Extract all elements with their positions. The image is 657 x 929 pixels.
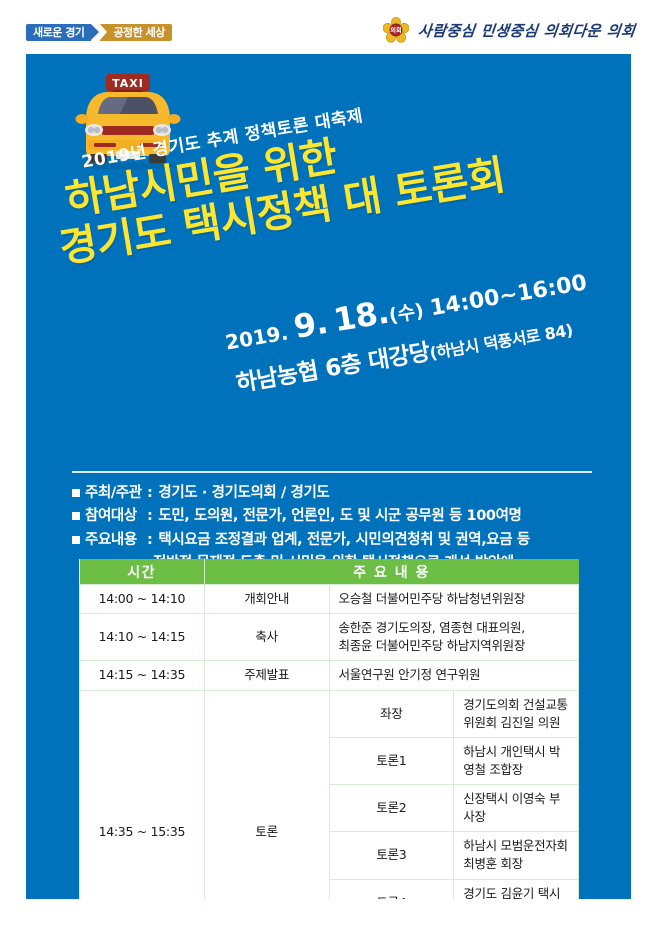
cell-subrole: 토론1 <box>329 737 454 784</box>
date-weekday: (수) <box>387 300 425 327</box>
cell-description: 경기도 김윤기 택시교통과장 <box>454 879 579 899</box>
table-row: 14:10 ~ 14:15 축사 송한준 경기도의장, 염종현 대표의원, 최종… <box>80 614 579 661</box>
cell-description: 하남시 개인택시 박영철 조합장 <box>454 737 579 784</box>
info-label: 참여대상 <box>85 505 147 528</box>
logo-text-fair-world: 공정한 세상 <box>100 24 171 41</box>
svg-text:의회: 의회 <box>390 27 402 35</box>
cell-time: 14:10 ~ 14:15 <box>80 614 205 661</box>
cell-time: 14:00 ~ 14:10 <box>80 585 205 614</box>
cell-description: 송한준 경기도의장, 염종현 대표의원, 최종윤 더불어민주당 하남지역위원장 <box>329 614 579 661</box>
info-value: 도민, 도의원, 전문가, 언론인, 도 및 시군 공무원 등 100여명 <box>158 505 602 528</box>
cell-description: 신장택시 이영숙 부사장 <box>454 785 579 832</box>
date-month: 9. <box>291 303 330 346</box>
poster-panel: TAXI <box>26 54 631 899</box>
info-colon: : <box>147 529 152 552</box>
info-label: 주최/주관 <box>85 482 147 505</box>
council-slogan-text: 사람중심 민생중심 의회다운 의회 <box>417 20 637 41</box>
venue-address: (하남시 덕풍서로 84) <box>428 321 574 364</box>
cell-description-line-2: 최종윤 더불어민주당 하남지역위원장 <box>339 637 570 655</box>
cell-description-line-1: 송한준 경기도의장, 염종현 대표의원, <box>339 619 570 637</box>
table-row: 14:35 ~ 15:35 토론 좌장 경기도의회 건설교통위원회 김진일 의원 <box>80 690 579 737</box>
schedule-table-wrapper: 시간 주 요 내 용 14:00 ~ 14:10 개회안내 오승철 더불어민주당… <box>79 559 579 899</box>
cell-time: 14:15 ~ 14:35 <box>80 661 205 690</box>
info-colon: : <box>147 505 152 528</box>
info-value: 택시요금 조정결과 업계, 전문가, 시민의견청취 및 권역,요금 등 <box>158 529 602 552</box>
cell-time: 14:35 ~ 15:35 <box>80 690 205 899</box>
info-row-participants: 참여대상 : 도민, 도의원, 전문가, 언론인, 도 및 시군 공무원 등 1… <box>72 505 602 528</box>
date-year: 2019. <box>223 320 289 354</box>
table-row: 14:15 ~ 14:35 주제발표 서울연구원 안기정 연구위원 <box>80 661 579 690</box>
cell-subrole: 좌장 <box>329 690 454 737</box>
column-header-content: 주 요 내 용 <box>204 559 578 585</box>
column-header-time: 시간 <box>80 559 205 585</box>
info-row-organizer: 주최/주관 : 경기도 · 경기도의회 / 경기도 <box>72 482 602 505</box>
cell-kind: 토론 <box>204 690 329 899</box>
cell-description: 하남시 모범운전자회 최병훈 회장 <box>454 832 579 879</box>
cell-subrole: 토론3 <box>329 832 454 879</box>
gyeonggi-council-logo: 의회 사람중심 민생중심 의회다운 의회 <box>383 17 635 43</box>
square-bullet-icon <box>72 489 80 497</box>
logo-text-new-gyeonggi: 새로운 경기 <box>26 24 91 41</box>
info-colon: : <box>147 482 152 505</box>
info-row-main-content: 주요내용 : 택시요금 조정결과 업계, 전문가, 시민의견청취 및 권역,요금… <box>72 529 602 552</box>
schedule-table: 시간 주 요 내 용 14:00 ~ 14:10 개회안내 오승철 더불어민주당… <box>79 559 579 899</box>
svg-text:TAXI: TAXI <box>112 77 144 90</box>
square-bullet-icon <box>72 536 80 544</box>
section-divider <box>72 471 592 473</box>
cell-subrole: 토론4 <box>329 879 454 899</box>
cell-kind: 개회안내 <box>204 585 329 614</box>
cell-description: 오승철 더불어민주당 하남청년위원장 <box>329 585 579 614</box>
table-row: 14:00 ~ 14:10 개회안내 오승철 더불어민주당 하남청년위원장 <box>80 585 579 614</box>
cell-kind: 주제발표 <box>204 661 329 690</box>
square-bullet-icon <box>72 512 80 520</box>
info-value: 경기도 · 경기도의회 / 경기도 <box>158 482 602 505</box>
cell-kind: 축사 <box>204 614 329 661</box>
page-header: 새로운 경기 공정한 세상 의회 사람중심 민생중심 의회다운 의회 <box>0 0 657 54</box>
gyeonggi-province-logo: 새로운 경기 공정한 세상 <box>26 24 172 41</box>
cell-subrole: 토론2 <box>329 785 454 832</box>
poster-date-venue-group: 2019. 9. 18.(수) 14:00~16:00 하남농협 6층 대강당(… <box>222 262 596 400</box>
flower-emblem-icon: 의회 <box>383 17 409 43</box>
date-day: 18. <box>331 293 392 340</box>
cell-description: 서울연구원 안기정 연구위원 <box>329 661 579 690</box>
table-header-row: 시간 주 요 내 용 <box>80 559 579 585</box>
cell-description: 경기도의회 건설교통위원회 김진일 의원 <box>454 690 579 737</box>
info-label: 주요내용 <box>85 529 147 552</box>
